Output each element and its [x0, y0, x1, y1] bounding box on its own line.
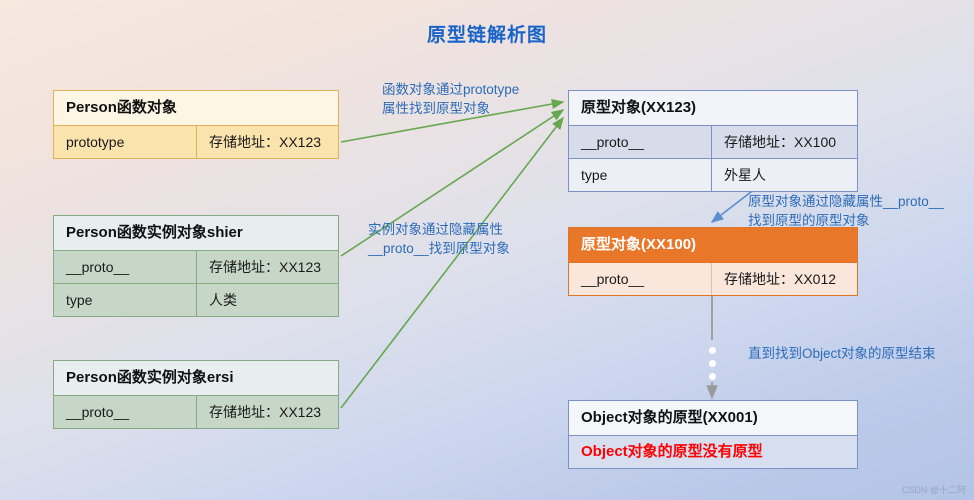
box-person-instance-shier[interactable]: Person函数实例对象shier __proto__ 存储地址：XX123 t… — [53, 215, 339, 317]
box-object-prototype-xx001[interactable]: Object对象的原型(XX001) Object对象的原型没有原型 — [568, 400, 858, 469]
table-row: __proto__ 存储地址：XX123 — [54, 395, 338, 428]
ersi-row0-value: 存储地址：XX123 — [197, 396, 338, 428]
annotation-chain-end: 直到找到Object对象的原型结束 — [748, 344, 936, 363]
box-shier-header: Person函数实例对象shier — [54, 216, 338, 250]
shier-row0-key: __proto__ — [54, 251, 197, 283]
box-object-header: Object对象的原型(XX001) — [569, 401, 857, 435]
proto123-row1-value: 外星人 — [712, 159, 857, 191]
box-person-header: Person函数对象 — [54, 91, 338, 125]
table-row: prototype 存储地址：XX123 — [54, 125, 338, 158]
person-row0-value: 存储地址：XX123 — [197, 126, 338, 158]
table-row: type 人类 — [54, 283, 338, 316]
watermark: CSDN @十二阿 — [902, 483, 966, 496]
chain-dot-3 — [709, 373, 716, 380]
annotation-prototype-line2: 属性找到原型对象 — [382, 99, 519, 118]
page-title: 原型链解析图 — [0, 20, 974, 47]
ersi-row0-key: __proto__ — [54, 396, 197, 428]
shier-row0-value: 存储地址：XX123 — [197, 251, 338, 283]
annotation-protoproto-line1: 原型对象通过隐藏属性__proto__ — [748, 192, 944, 211]
arrow-ersi-to-proto123 — [341, 118, 563, 408]
table-row: type 外星人 — [569, 158, 857, 191]
annotation-end-line1: 直到找到Object对象的原型结束 — [748, 344, 936, 363]
table-row: Object对象的原型没有原型 — [569, 435, 857, 468]
proto100-row0-value: 存储地址：XX012 — [712, 263, 857, 295]
table-row: __proto__ 存储地址：XX012 — [569, 262, 857, 295]
shier-row1-value: 人类 — [197, 284, 338, 316]
person-row0-key: prototype — [54, 126, 197, 158]
annotation-instance-line2: __proto__找到原型对象 — [368, 239, 510, 258]
box-person-function-object[interactable]: Person函数对象 prototype 存储地址：XX123 — [53, 90, 339, 159]
annotation-instance-lookup: 实例对象通过隐藏属性 __proto__找到原型对象 — [368, 220, 510, 258]
annotation-prototype-lookup: 函数对象通过prototype 属性找到原型对象 — [382, 80, 519, 118]
table-row: __proto__ 存储地址：XX123 — [54, 250, 338, 283]
diagram-canvas: 原型链解析图 Person函数对象 prototype 存储地址：XX123 P… — [0, 0, 974, 500]
box-ersi-header: Person函数实例对象ersi — [54, 361, 338, 395]
object-no-prototype-note: Object对象的原型没有原型 — [569, 436, 857, 468]
annotation-instance-line1: 实例对象通过隐藏属性 — [368, 220, 510, 239]
proto123-row0-key: __proto__ — [569, 126, 712, 158]
box-proto123-header: 原型对象(XX123) — [569, 91, 857, 125]
annotation-proto-of-proto-lookup: 原型对象通过隐藏属性__proto__ 找到原型的原型对象 — [748, 192, 944, 230]
box-person-instance-ersi[interactable]: Person函数实例对象ersi __proto__ 存储地址：XX123 — [53, 360, 339, 429]
table-row: __proto__ 存储地址：XX100 — [569, 125, 857, 158]
box-prototype-object-xx100[interactable]: 原型对象(XX100) __proto__ 存储地址：XX012 — [568, 227, 858, 296]
annotation-prototype-line1: 函数对象通过prototype — [382, 80, 519, 99]
proto100-row0-key: __proto__ — [569, 263, 712, 295]
chain-dot-2 — [709, 360, 716, 367]
box-prototype-object-xx123[interactable]: 原型对象(XX123) __proto__ 存储地址：XX100 type 外星… — [568, 90, 858, 192]
annotation-protoproto-line2: 找到原型的原型对象 — [748, 211, 944, 230]
shier-row1-key: type — [54, 284, 197, 316]
chain-dot-1 — [709, 347, 716, 354]
proto123-row1-key: type — [569, 159, 712, 191]
proto123-row0-value: 存储地址：XX100 — [712, 126, 857, 158]
box-proto100-header: 原型对象(XX100) — [569, 228, 857, 262]
